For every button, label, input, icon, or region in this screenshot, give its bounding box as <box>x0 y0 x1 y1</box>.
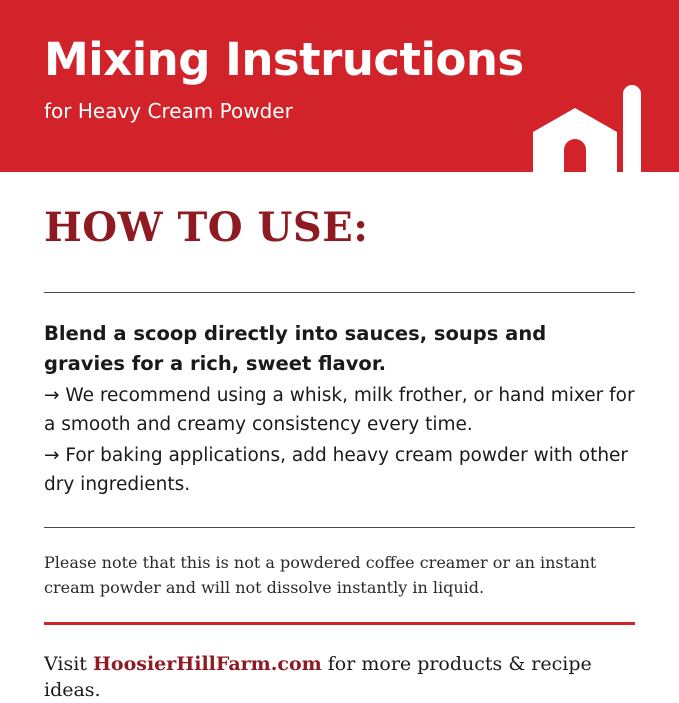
footer-text: Visit HoosierHillFarm.com for more produ… <box>44 651 635 703</box>
section-heading: HOW TO USE: <box>44 206 635 250</box>
disclaimer-note: Please note that this is not a powdered … <box>44 550 635 600</box>
instruction-bullet-2: → For baking applications, add heavy cre… <box>44 441 635 499</box>
instruction-lead: Blend a scoop directly into sauces, soup… <box>44 319 624 379</box>
instruction-bullet-1: → We recommend using a whisk, milk froth… <box>44 381 635 439</box>
footer-prefix: Visit <box>44 653 93 675</box>
website-link[interactable]: HoosierHillFarm.com <box>93 653 322 675</box>
instructions-block: Blend a scoop directly into sauces, soup… <box>44 319 635 499</box>
page-title: Mixing Instructions <box>44 34 679 86</box>
divider-red <box>44 622 635 625</box>
divider-top <box>44 292 635 293</box>
divider-middle <box>44 527 635 528</box>
instruction-card: Mixing Instructions for Heavy Cream Powd… <box>0 0 679 679</box>
header-banner: Mixing Instructions for Heavy Cream Powd… <box>0 0 679 172</box>
content-area: HOW TO USE: Blend a scoop directly into … <box>0 206 679 703</box>
barn-and-silo-icon <box>531 80 651 172</box>
